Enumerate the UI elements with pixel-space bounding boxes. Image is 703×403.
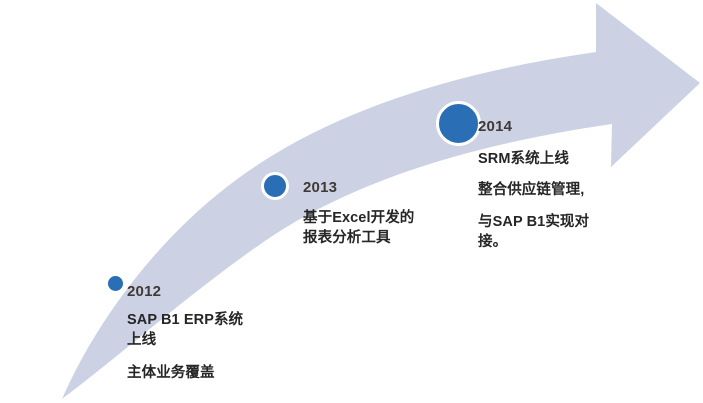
milestone-note2-2014-line1: 与SAP B1实现对	[478, 212, 638, 233]
milestone-dot-2014[interactable]	[436, 101, 481, 146]
milestone-labels-2012: 2012 SAP B1 ERP系统 上线 主体业务覆盖	[127, 284, 307, 383]
milestone-note-2012: 主体业务覆盖	[127, 363, 307, 384]
timeline-canvas: 2012 SAP B1 ERP系统 上线 主体业务覆盖 2013 基于Excel…	[0, 0, 703, 403]
milestone-dot-2013[interactable]	[261, 172, 289, 200]
milestone-desc-2013-line1: 基于Excel开发的	[303, 208, 493, 229]
milestone-desc-2012-line1: SAP B1 ERP系统	[127, 310, 307, 331]
milestone-desc-2012-line2: 上线	[127, 330, 307, 351]
milestone-desc-2013-line2: 报表分析工具	[303, 228, 493, 249]
milestone-labels-2013: 2013 基于Excel开发的 报表分析工具	[303, 180, 493, 249]
milestone-dot-2012[interactable]	[108, 276, 123, 291]
milestone-year-2014: 2014	[478, 119, 638, 136]
milestone-year-2012: 2012	[127, 284, 307, 301]
milestone-labels-2014: 2014 SRM系统上线 整合供应链管理, 与SAP B1实现对 接。	[478, 119, 638, 253]
milestone-note-2014: 整合供应链管理,	[478, 180, 638, 201]
milestone-desc-2014-line1: SRM系统上线	[478, 149, 638, 170]
milestone-year-2013: 2013	[303, 180, 493, 197]
milestone-note2-2014-line2: 接。	[478, 232, 638, 253]
